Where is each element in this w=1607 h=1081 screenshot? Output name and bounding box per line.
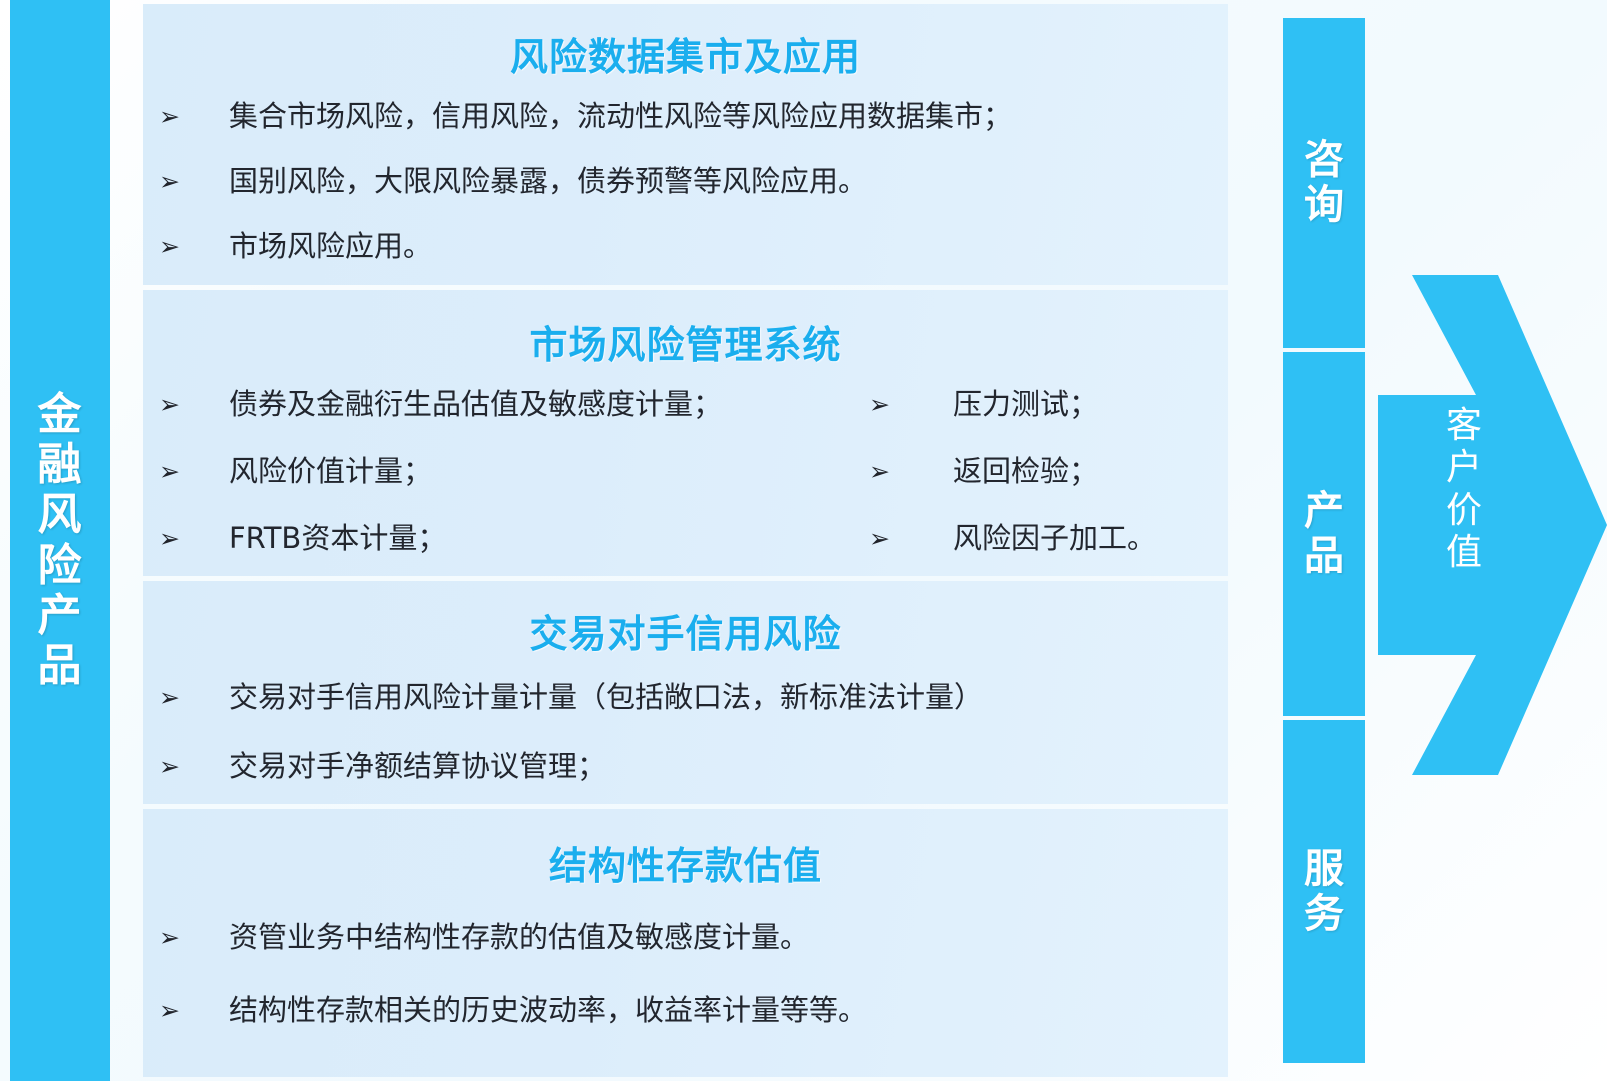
arrow-bullet-icon: ➢ — [843, 526, 953, 551]
customer-value-label: 客户价值 — [1438, 405, 1490, 575]
arrow-bullet-icon: ➢ — [143, 392, 229, 417]
arrow-bullet-icon: ➢ — [143, 754, 229, 779]
stage-box-product: 产品 — [1283, 352, 1365, 716]
panel-title: 风险数据集市及应用 — [143, 26, 1228, 81]
bullet-column-left: ➢ 债券及金融衍生品估值及敏感度计量； ➢ 风险价值计量； ➢ FRTB资本计量… — [143, 387, 843, 587]
bullet-column-right: ➢ 压力测试； ➢ 返回检验； ➢ 风险因子加工。 — [843, 387, 1228, 587]
list-item-text: 返回检验； — [953, 454, 1098, 489]
list-item: ➢ 交易对手信用风险计量计量（包括敞口法，新标准法计量） — [143, 680, 1228, 715]
stage-box-consulting: 咨询 — [1283, 18, 1365, 348]
panel-title: 交易对手信用风险 — [143, 603, 1228, 658]
panel-stack: 风险数据集市及应用 ➢ 集合市场风险，信用风险，流动性风险等风险应用数据集市； … — [143, 4, 1228, 1077]
stage-column: 咨询 产品 服务 — [1283, 18, 1365, 1063]
arrow-bullet-icon: ➢ — [143, 169, 229, 194]
list-item: ➢ 国别风险，大限风险暴露，债券预警等风险应用。 — [143, 164, 1228, 199]
list-item: ➢ 交易对手净额结算协议管理； — [143, 749, 1228, 784]
list-item-text: 市场风险应用。 — [229, 229, 432, 264]
customer-value-arrow: 客户价值 — [1378, 275, 1607, 775]
bullet-list: ➢ 交易对手信用风险计量计量（包括敞口法，新标准法计量） ➢ 交易对手净额结算协… — [143, 680, 1228, 784]
stage-label: 产品 — [1301, 489, 1347, 579]
bullet-list: ➢ 债券及金融衍生品估值及敏感度计量； ➢ 风险价值计量； ➢ FRTB资本计量… — [143, 387, 1228, 587]
list-item: ➢ 集合市场风险，信用风险，流动性风险等风险应用数据集市； — [143, 99, 1228, 134]
arrow-bullet-icon: ➢ — [143, 104, 229, 129]
list-item-text: 债券及金融衍生品估值及敏感度计量； — [229, 387, 722, 422]
panel-title: 市场风险管理系统 — [143, 314, 1228, 369]
list-item-text: 交易对手净额结算协议管理； — [229, 749, 606, 784]
slide-root: 金融风险产品 风险数据集市及应用 ➢ 集合市场风险，信用风险，流动性风险等风险应… — [0, 0, 1607, 1081]
arrow-bullet-icon: ➢ — [143, 526, 229, 551]
list-item-text: 风险因子加工。 — [953, 521, 1156, 556]
list-item: ➢ 风险因子加工。 — [843, 521, 1228, 556]
list-item: ➢ 债券及金融衍生品估值及敏感度计量； — [143, 387, 843, 422]
list-item-text: 压力测试； — [953, 387, 1098, 422]
arrow-bullet-icon: ➢ — [843, 459, 953, 484]
stage-label: 服务 — [1301, 847, 1347, 937]
panel-market-risk-system: 市场风险管理系统 ➢ 债券及金融衍生品估值及敏感度计量； ➢ 风险价值计量； ➢… — [143, 290, 1228, 576]
arrow-bullet-icon: ➢ — [843, 392, 953, 417]
arrow-bullet-icon: ➢ — [143, 998, 229, 1023]
list-item-text: 交易对手信用风险计量计量（包括敞口法，新标准法计量） — [229, 680, 983, 715]
left-category-label: 金融风险产品 — [32, 390, 88, 691]
arrow-bullet-icon: ➢ — [143, 234, 229, 259]
right-arrow-icon — [1378, 275, 1607, 775]
panel-risk-data-mart: 风险数据集市及应用 ➢ 集合市场风险，信用风险，流动性风险等风险应用数据集市； … — [143, 4, 1228, 285]
list-item: ➢ FRTB资本计量； — [143, 521, 843, 556]
list-item: ➢ 返回检验； — [843, 454, 1228, 489]
list-item-text: 结构性存款相关的历史波动率，收益率计量等等。 — [229, 993, 867, 1028]
list-item: ➢ 压力测试； — [843, 387, 1228, 422]
list-item-text: 资管业务中结构性存款的估值及敏感度计量。 — [229, 920, 809, 955]
list-item-text: 风险价值计量； — [229, 454, 432, 489]
list-item: ➢ 市场风险应用。 — [143, 229, 1228, 264]
arrow-bullet-icon: ➢ — [143, 925, 229, 950]
bullet-list: ➢ 集合市场风险，信用风险，流动性风险等风险应用数据集市； ➢ 国别风险，大限风… — [143, 99, 1228, 263]
arrow-bullet-icon: ➢ — [143, 685, 229, 710]
list-item: ➢ 资管业务中结构性存款的估值及敏感度计量。 — [143, 920, 1228, 955]
panel-counterparty-credit-risk: 交易对手信用风险 ➢ 交易对手信用风险计量计量（包括敞口法，新标准法计量） ➢ … — [143, 581, 1228, 804]
list-item-text: 国别风险，大限风险暴露，债券预警等风险应用。 — [229, 164, 867, 199]
arrow-bullet-icon: ➢ — [143, 459, 229, 484]
stage-label: 咨询 — [1301, 138, 1347, 228]
panel-title: 结构性存款估值 — [143, 835, 1228, 890]
bullet-list: ➢ 资管业务中结构性存款的估值及敏感度计量。 ➢ 结构性存款相关的历史波动率，收… — [143, 920, 1228, 1028]
list-item: ➢ 结构性存款相关的历史波动率，收益率计量等等。 — [143, 993, 1228, 1028]
left-category-bar: 金融风险产品 — [10, 0, 110, 1081]
list-item: ➢ 风险价值计量； — [143, 454, 843, 489]
stage-box-service: 服务 — [1283, 720, 1365, 1063]
list-item-text: FRTB资本计量； — [229, 521, 446, 556]
panel-structured-deposit-valuation: 结构性存款估值 ➢ 资管业务中结构性存款的估值及敏感度计量。 ➢ 结构性存款相关… — [143, 809, 1228, 1077]
list-item-text: 集合市场风险，信用风险，流动性风险等风险应用数据集市； — [229, 99, 1012, 134]
